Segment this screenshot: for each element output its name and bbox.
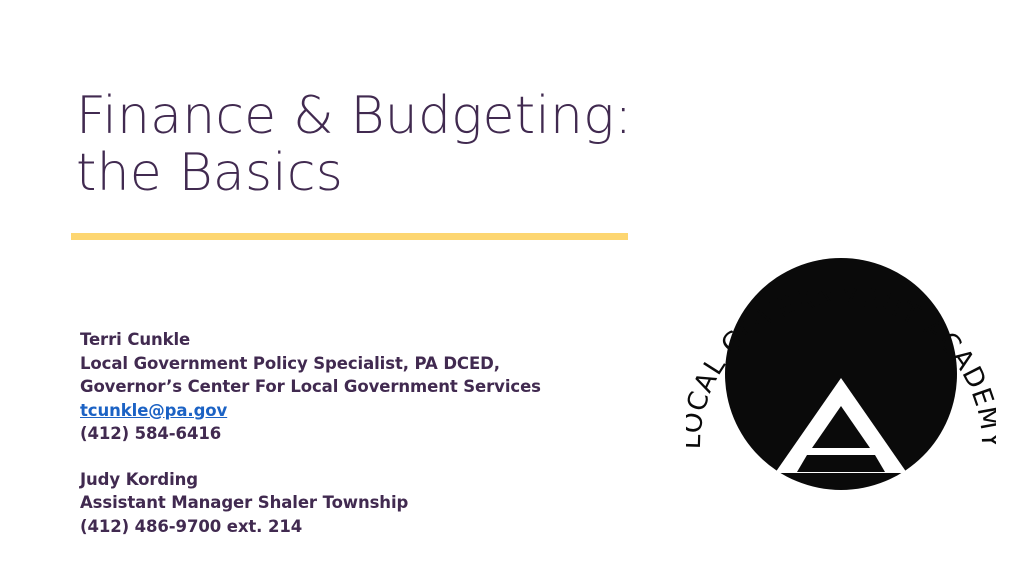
contact-email-link[interactable]: tcunkle@pa.gov: [80, 399, 227, 423]
contact-name: Terri Cunkle: [80, 328, 680, 352]
logo-a-crossbar: [797, 455, 885, 472]
slide-title: Finance & Budgeting: the Basics: [76, 88, 656, 202]
contact-role-line-2: Governor’s Center For Local Government S…: [80, 375, 680, 399]
contact-block-primary: Terri Cunkle Local Government Policy Spe…: [80, 328, 680, 446]
contact-name: Judy Kording: [80, 468, 680, 492]
title-line-1: Finance & Budgeting:: [76, 88, 656, 145]
contact-role-line-1: Assistant Manager Shaler Township: [80, 491, 680, 515]
contact-phone: (412) 486-9700 ext. 214: [80, 515, 680, 539]
contact-block-secondary: Judy Kording Assistant Manager Shaler To…: [80, 468, 680, 539]
contact-information: Terri Cunkle Local Government Policy Spe…: [80, 328, 680, 538]
title-divider-rule: [71, 233, 628, 240]
logo-mark-icon: LOCAL GOVERNMENT ACADEMY: [686, 238, 996, 538]
contact-phone: (412) 584-6416: [80, 422, 680, 446]
title-line-2: the Basics: [76, 145, 656, 202]
local-government-academy-logo: LOCAL GOVERNMENT ACADEMY: [686, 238, 996, 538]
slide-canvas: Finance & Budgeting: the Basics Terri Cu…: [0, 0, 1024, 576]
contact-role-line-1: Local Government Policy Specialist, PA D…: [80, 352, 680, 376]
